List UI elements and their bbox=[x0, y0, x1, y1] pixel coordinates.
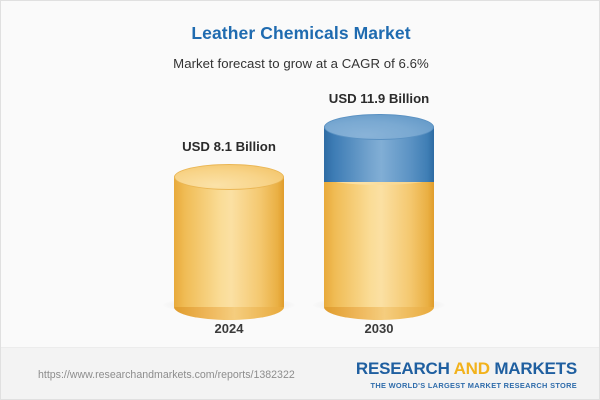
bar-value-label-2024: USD 8.1 Billion bbox=[149, 139, 309, 154]
cylinder-top-cap bbox=[324, 114, 434, 140]
logo-wordmark: RESEARCH AND MARKETS bbox=[356, 359, 577, 379]
logo-word-and: AND bbox=[454, 359, 495, 378]
chart-title: Leather Chemicals Market bbox=[1, 23, 600, 44]
chart-card: Leather Chemicals Market Market forecast… bbox=[0, 0, 600, 400]
cylinder-body bbox=[174, 177, 284, 307]
logo-word-research: RESEARCH bbox=[356, 359, 454, 378]
chart-header: Leather Chemicals Market Market forecast… bbox=[1, 1, 600, 71]
logo-word-markets: MARKETS bbox=[494, 359, 577, 378]
logo-tagline: THE WORLD'S LARGEST MARKET RESEARCH STOR… bbox=[356, 381, 577, 390]
category-label-2030: 2030 bbox=[299, 321, 459, 336]
bar-segment-growth-2030 bbox=[324, 127, 434, 182]
cylinder-top-cap bbox=[174, 164, 284, 190]
category-label-2024: 2024 bbox=[149, 321, 309, 336]
chart-footer: https://www.researchandmarkets.com/repor… bbox=[1, 347, 600, 399]
chart-plot-area: USD 8.1 Billion 2024 USD 11.9 Billion bbox=[1, 83, 600, 341]
bar-value-label-2030: USD 11.9 Billion bbox=[299, 91, 459, 106]
cylinder-body bbox=[324, 177, 434, 307]
bar-segment-base-2024 bbox=[174, 177, 284, 307]
chart-subtitle: Market forecast to grow at a CAGR of 6.6… bbox=[1, 56, 600, 71]
bar-segment-base-2030 bbox=[324, 177, 434, 307]
bar-cylinder-2030[interactable] bbox=[324, 127, 434, 307]
bar-cylinder-2024[interactable] bbox=[174, 177, 284, 307]
source-url[interactable]: https://www.researchandmarkets.com/repor… bbox=[38, 369, 295, 381]
researchandmarkets-logo[interactable]: RESEARCH AND MARKETS THE WORLD'S LARGEST… bbox=[356, 359, 577, 390]
